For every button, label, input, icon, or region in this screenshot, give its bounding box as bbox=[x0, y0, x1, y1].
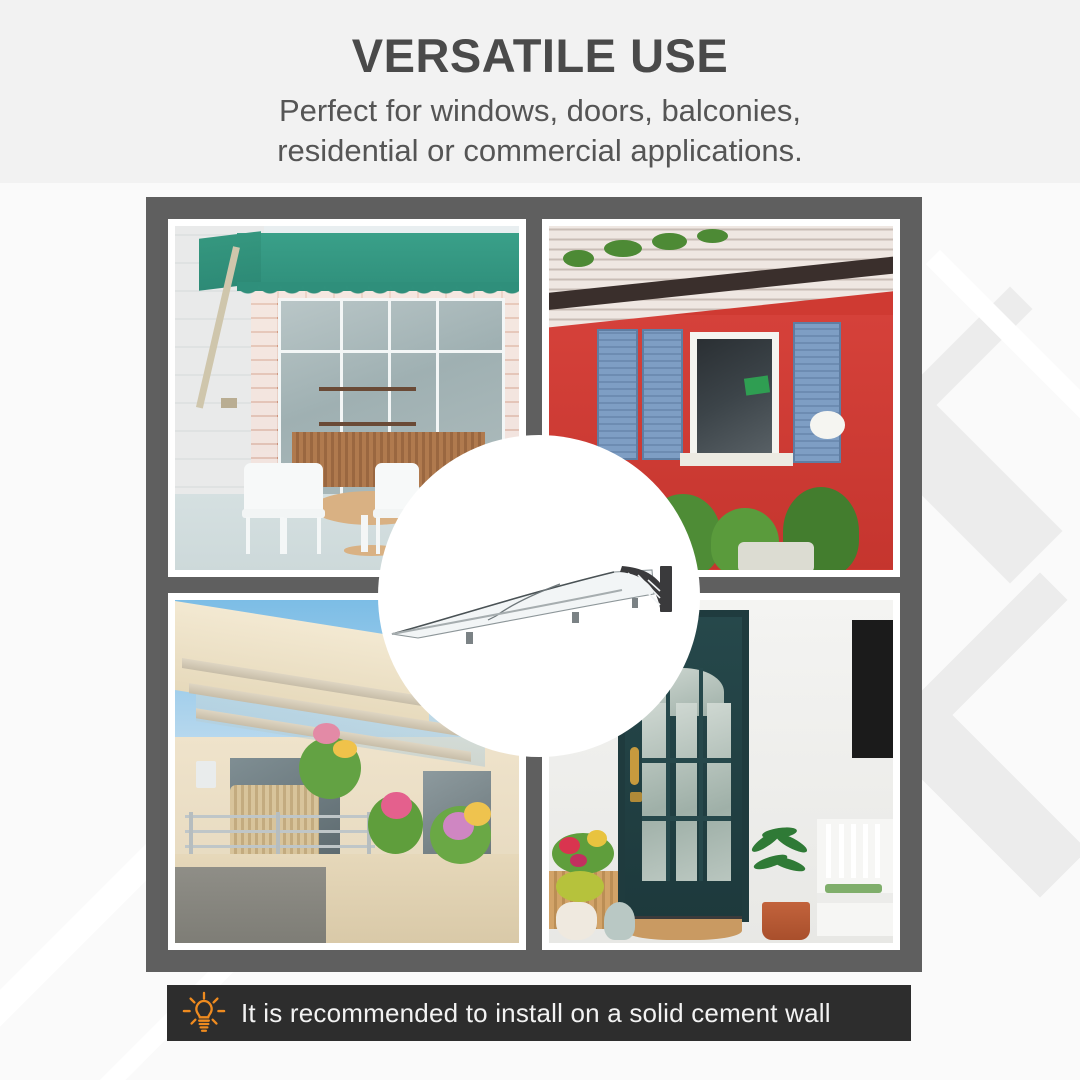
product-feature-image: VERSATILE USE Perfect for windows, doors… bbox=[0, 0, 1080, 1080]
page-title: VERSATILE USE bbox=[0, 0, 1080, 83]
door-canopy-product-image bbox=[384, 560, 696, 650]
page-subtitle: Perfect for windows, doors, balconies, r… bbox=[0, 83, 1080, 170]
tip-banner: It is recommended to install on a solid … bbox=[167, 985, 911, 1041]
tip-text: It is recommended to install on a solid … bbox=[241, 998, 831, 1029]
subtitle-line-1: Perfect for windows, doors, balconies, bbox=[279, 93, 801, 128]
header: VERSATILE USE Perfect for windows, doors… bbox=[0, 0, 1080, 183]
product-callout-circle bbox=[378, 435, 700, 757]
subtitle-line-2: residential or commercial applications. bbox=[277, 133, 803, 168]
lightbulb-icon bbox=[181, 990, 227, 1036]
